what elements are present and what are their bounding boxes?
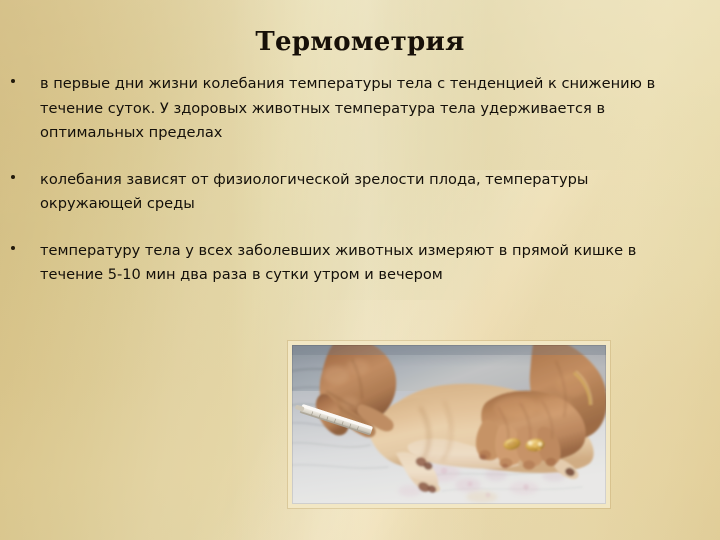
photo-frame [288,341,610,508]
slide-canvas: Термометрия в первые дни жизни колебания… [0,0,720,540]
bullet-text: температуру тела у всех заболевших живот… [40,239,688,288]
list-item: в первые дни жизни колебания температуры… [0,72,720,146]
bullet-dot-icon [11,246,15,250]
thermometry-photo [292,345,606,504]
bullet-dot-icon [11,175,15,179]
bullet-list: в первые дни жизни колебания температуры… [0,72,720,310]
bullet-text: в первые дни жизни колебания температуры… [40,72,688,146]
list-item: колебания зависят от физиологической зре… [0,168,720,217]
bullet-dot-icon [11,79,15,83]
bullet-text: колебания зависят от физиологической зре… [40,168,688,217]
list-item: температуру тела у всех заболевших живот… [0,239,720,288]
slide-title: Термометрия [0,26,720,58]
photo-illustration [292,345,606,504]
